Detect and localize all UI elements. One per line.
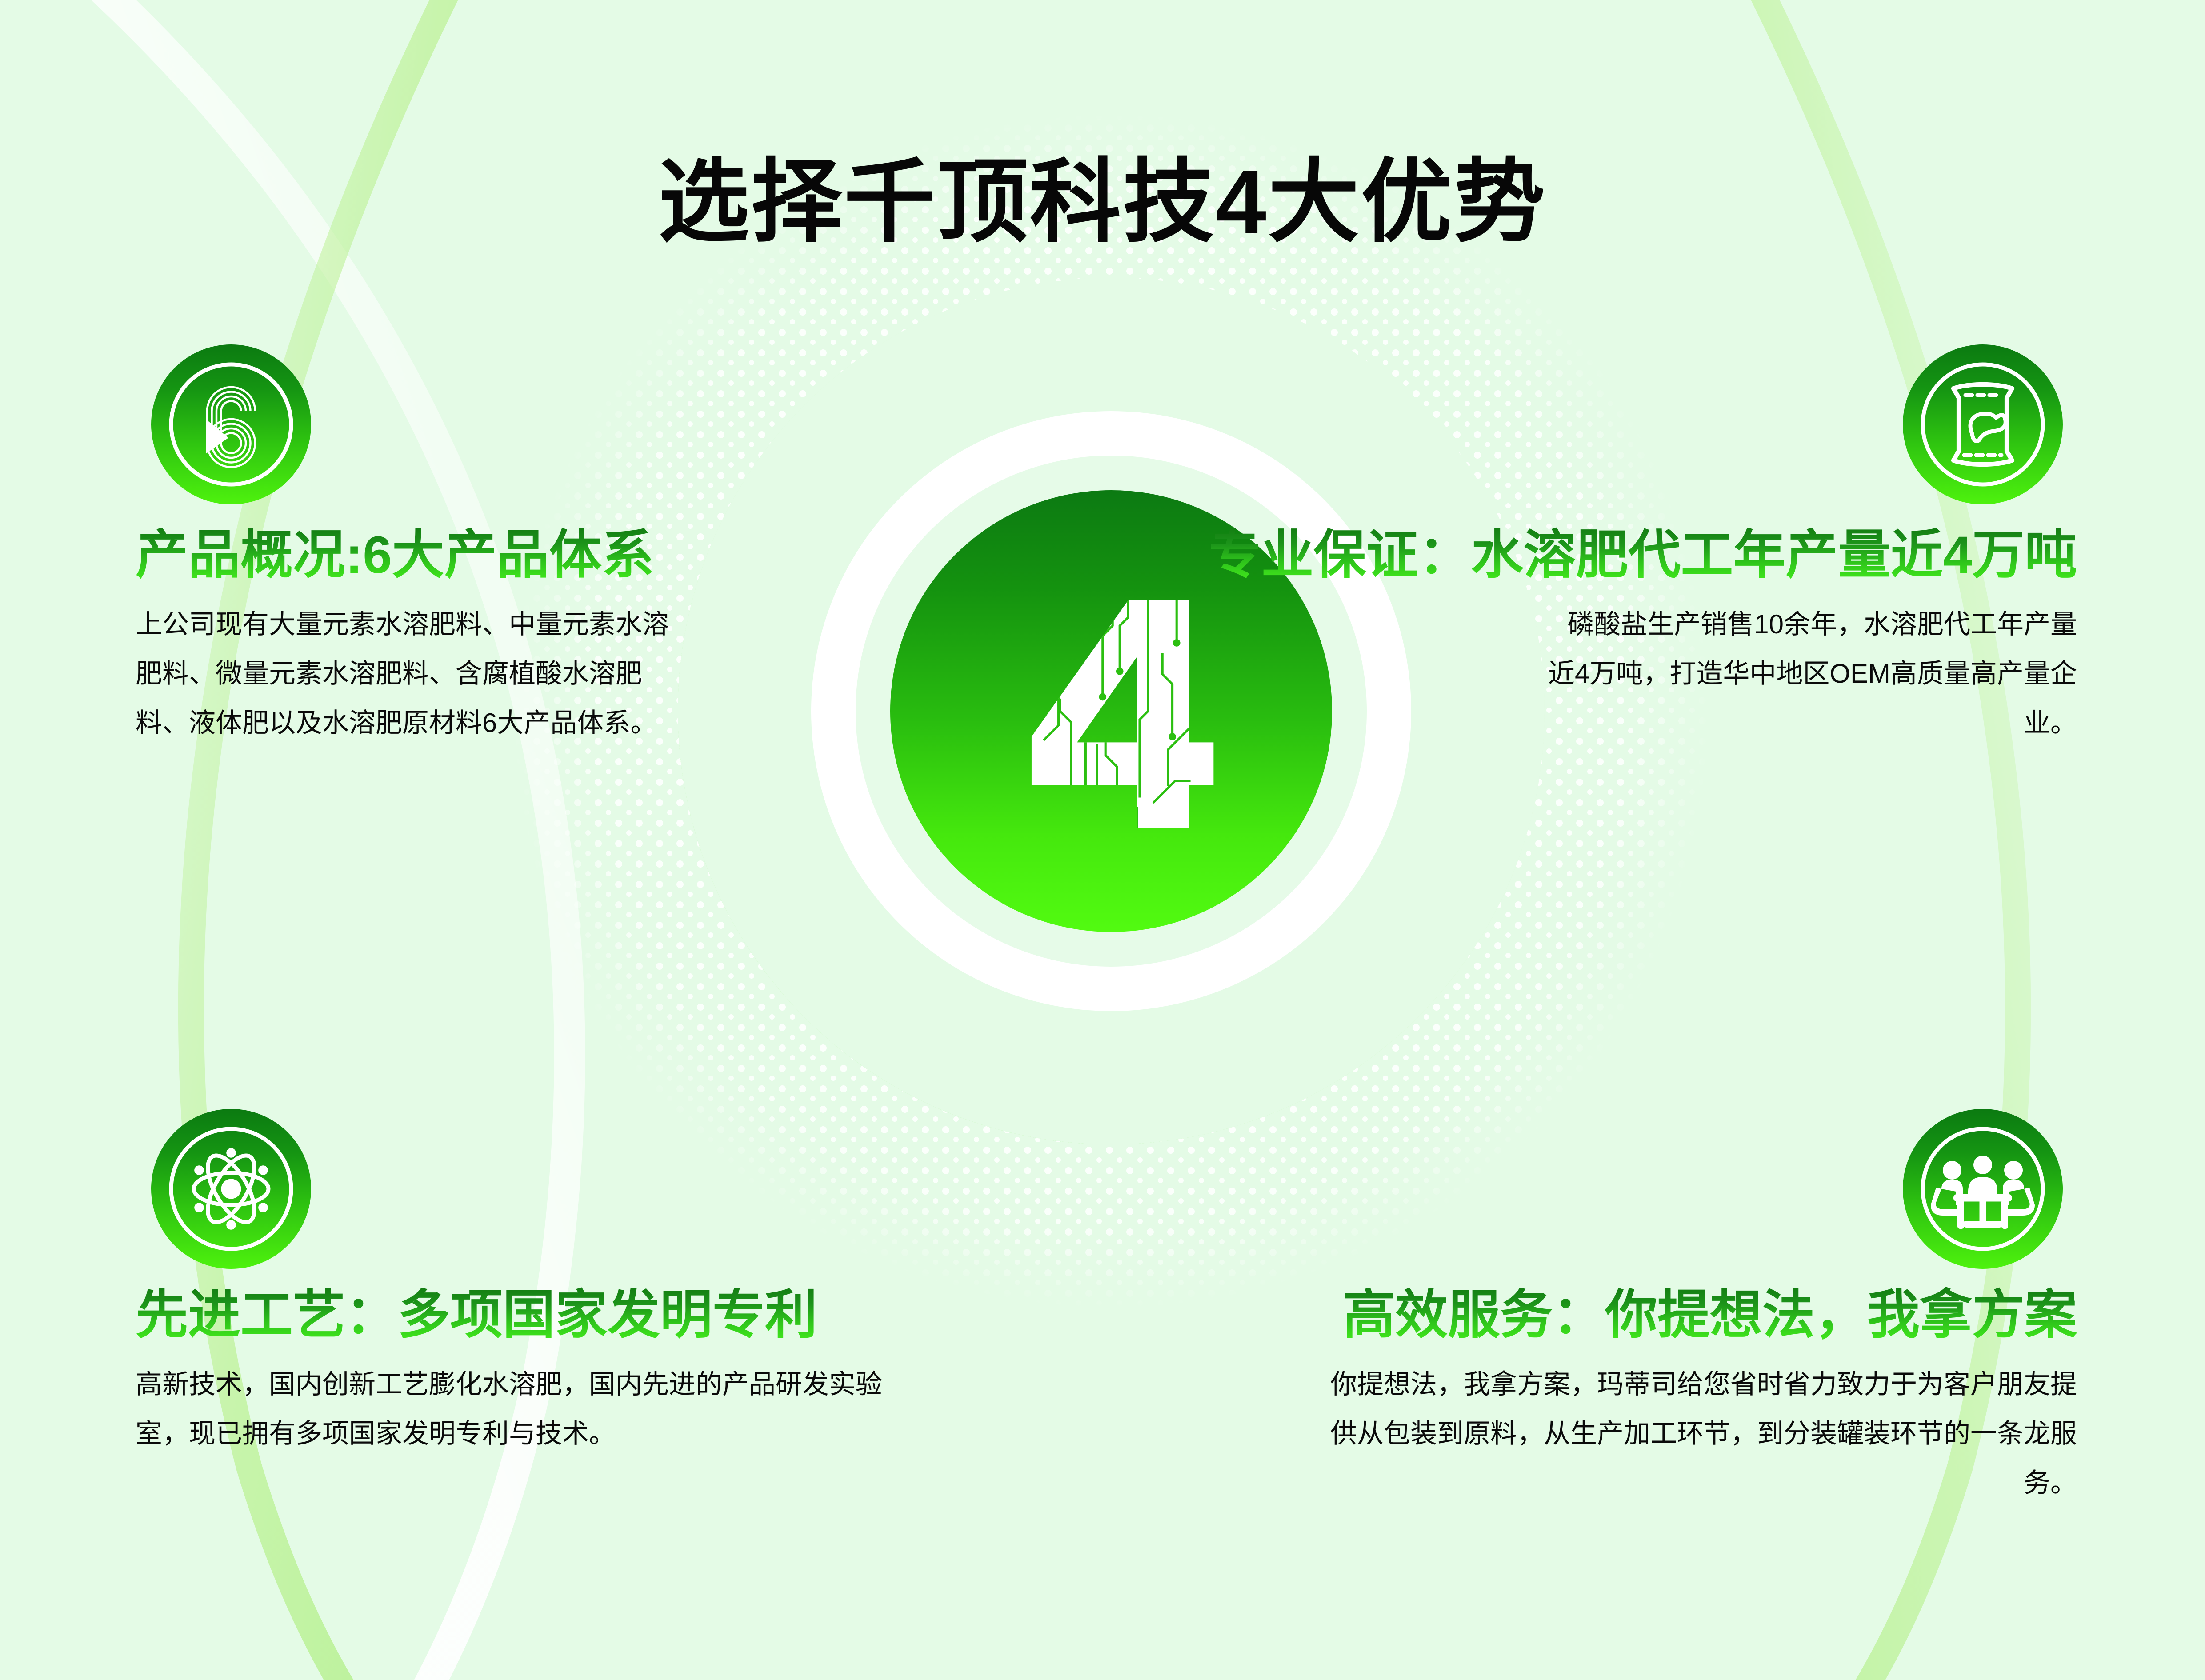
advantage-heading-top-left: 产品概况:6大产品体系 (136, 527, 689, 584)
number-six-swirl-icon (151, 344, 311, 504)
page-title: 选择千顶科技4大优势 (0, 156, 2205, 248)
advantage-body-top-left: 上公司现有大量元素水溶肥料、中量元素水溶肥料、微量元素水溶肥料、含腐植酸水溶肥料… (136, 600, 689, 748)
badge-professional-guarantee[interactable] (1903, 344, 2063, 504)
advantage-body-top-right: 磷酸盐生产销售10余年，水溶肥代工年产量近4万吨，打造华中地区OEM高质量高产量… (1544, 600, 2077, 748)
infographic-canvas: 选择千顶科技4大优势 (0, 0, 2205, 1680)
atom-icon (151, 1109, 311, 1269)
badge-advanced-technology[interactable] (151, 1109, 311, 1269)
advantage-block-bottom-right: 高效服务：你提想法，我拿方案 你提想法，我拿方案，玛蒂司给您省时省力致力于为客户… (1313, 1287, 2077, 1508)
badge-efficient-service[interactable] (1903, 1109, 2063, 1269)
advantage-body-bottom-right: 你提想法，我拿方案，玛蒂司给您省时省力致力于为客户朋友提供从包装到原料，从生产加… (1313, 1360, 2077, 1508)
advantage-heading-top-right: 专业保证：水溶肥代工年产量近4万吨 (1209, 527, 2077, 584)
fertilizer-bag-icon (1903, 344, 2063, 504)
advantage-block-top-left: 产品概况:6大产品体系 上公司现有大量元素水溶肥料、中量元素水溶肥料、微量元素水… (136, 527, 689, 748)
advantage-heading-bottom-left: 先进工艺：多项国家发明专利 (136, 1287, 882, 1344)
advantage-block-bottom-left: 先进工艺：多项国家发明专利 高新技术，国内创新工艺膨化水溶肥，国内先进的产品研发… (136, 1287, 882, 1458)
meeting-table-people-icon (1903, 1109, 2063, 1269)
badge-product-overview[interactable] (151, 344, 311, 504)
advantage-body-bottom-left: 高新技术，国内创新工艺膨化水溶肥，国内先进的产品研发实验室，现已拥有多项国家发明… (136, 1360, 882, 1458)
advantage-heading-bottom-right: 高效服务：你提想法，我拿方案 (1313, 1287, 2077, 1344)
advantage-block-top-right: 专业保证：水溶肥代工年产量近4万吨 磷酸盐生产销售10余年，水溶肥代工年产量近4… (1209, 527, 2077, 748)
